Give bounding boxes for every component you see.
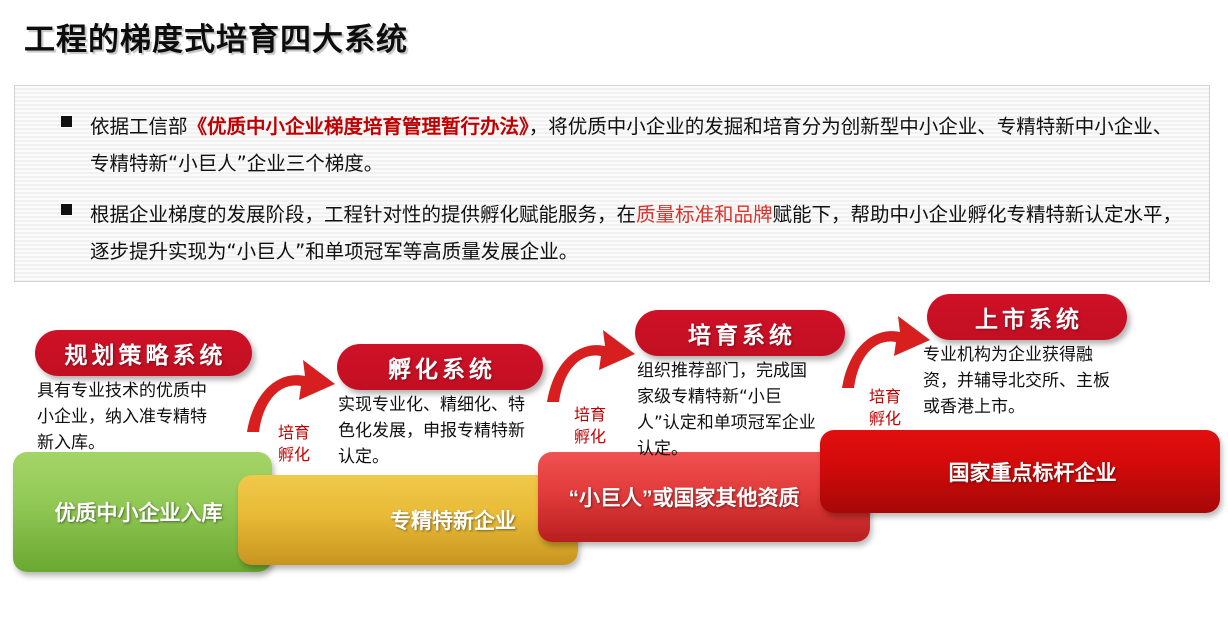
stage-bar-label: 国家重点标杆企业 — [820, 457, 1220, 487]
bullet2-seg1: 根据企业梯度的发展阶段，工程针对性的提供孵化赋能服务，在 — [90, 203, 636, 226]
system-pill-planning-strategy: 规划策略系统 — [35, 330, 252, 376]
system-pill-label: 上市系统 — [971, 300, 1083, 334]
arrow-label-incubation-1: 培育孵化 — [267, 422, 321, 466]
stage-bar-label: 优质中小企业入库 — [13, 497, 272, 527]
stage-bar-label: 专精特新企业 — [238, 505, 578, 535]
system-pill-label: 规划策略系统 — [61, 336, 227, 370]
stage-bar-national-benchmark: 国家重点标杆企业 — [820, 430, 1220, 513]
bullet-text-1: 依据工信部《优质中小企业梯度培育管理暂行办法》，将优质中小企业的发掘和培育分为创… — [90, 108, 1191, 182]
system-pill-cultivation: 培育系统 — [635, 310, 845, 356]
bullet2-seg2-highlight: 质量标准和品牌 — [636, 203, 773, 226]
system-pill-incubation: 孵化系统 — [337, 344, 543, 390]
bullet-marker-icon — [61, 204, 72, 215]
stage-bar-quality-sme: 优质中小企业入库 — [13, 452, 272, 572]
system-pill-listing: 上市系统 — [927, 294, 1127, 340]
arrow-label-incubation-3: 培育孵化 — [858, 386, 912, 430]
info-box: 依据工信部《优质中小企业梯度培育管理暂行办法》，将优质中小企业的发掘和培育分为创… — [14, 85, 1210, 282]
system-description-incubation: 实现专业化、精细化、特色化发展，申报专精特新认定。 — [338, 392, 536, 470]
curved-arrow-icon — [543, 324, 639, 404]
bullet-item: 根据企业梯度的发展阶段，工程针对性的提供孵化赋能服务，在质量标准和品牌赋能下，帮… — [33, 196, 1191, 270]
bullet-text-2: 根据企业梯度的发展阶段，工程针对性的提供孵化赋能服务，在质量标准和品牌赋能下，帮… — [90, 196, 1191, 270]
system-pill-label: 培育系统 — [684, 316, 796, 350]
bullet1-seg2-highlight: 《优质中小企业梯度培育管理暂行办法》 — [188, 115, 529, 138]
gradient-cultivation-diagram: 优质中小企业入库 专精特新企业 “小巨人”或国家其他资质 国家重点标杆企业 规划… — [0, 282, 1228, 622]
system-pill-label: 孵化系统 — [384, 350, 496, 384]
page-title: 工程的梯度式培育四大系统 — [24, 14, 408, 59]
bullet-marker-icon — [61, 116, 72, 127]
system-description-cultivation: 组织推荐部门，完成国家级专精特新“小巨人”认定和单项冠军企业认定。 — [637, 358, 822, 462]
system-description-planning-strategy: 具有专业技术的优质中小企业，纳入准专精特新入库。 — [37, 378, 223, 456]
stage-bar-specialized-new: 专精特新企业 — [238, 475, 578, 565]
bullet-item: 依据工信部《优质中小企业梯度培育管理暂行办法》，将优质中小企业的发掘和培育分为创… — [33, 108, 1191, 182]
arrow-label-incubation-2: 培育孵化 — [563, 404, 617, 448]
bullet1-seg1: 依据工信部 — [90, 115, 188, 138]
curved-arrow-icon — [838, 310, 934, 390]
system-description-listing: 专业机构为企业获得融资，并辅导北交所、主板或香港上市。 — [923, 342, 1123, 420]
